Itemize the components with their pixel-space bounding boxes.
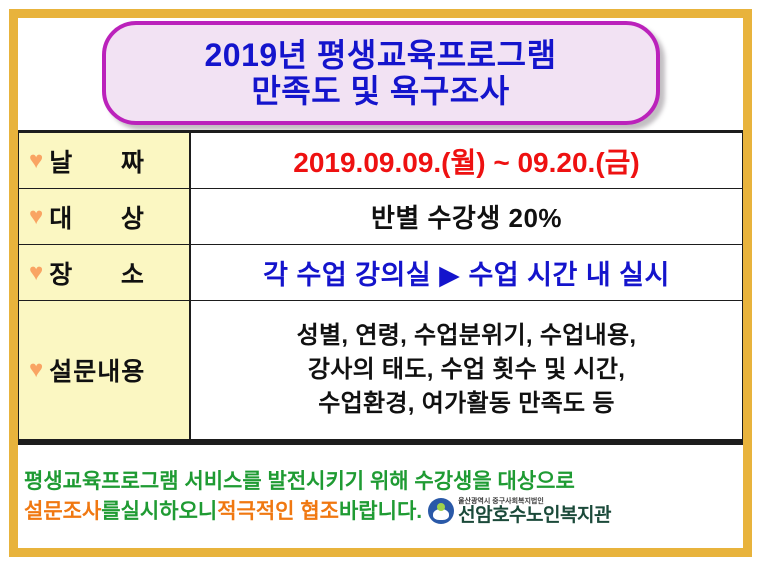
row-label-place-text: 장 소 bbox=[49, 255, 145, 291]
row-value-survey: 성별, 연령, 수업분위기, 수업내용, 강사의 태도, 수업 횟수 및 시간,… bbox=[191, 301, 742, 439]
footer-part-survey: 설문조사 bbox=[24, 497, 101, 527]
date-value: 2019.09.09.(월) ~ 09.20.(금) bbox=[293, 141, 640, 181]
place-value: 각 수업 강의실 ▶ 수업 시간 내 실시 bbox=[263, 253, 670, 292]
welfare-center-logo-icon bbox=[428, 498, 454, 524]
row-label-survey: ♥ 설문내용 bbox=[19, 301, 191, 439]
survey-line-3: 수업환경, 여가활동 만족도 등 bbox=[318, 387, 614, 421]
heart-icon: ♥ bbox=[29, 261, 43, 285]
survey-line-2: 강사의 태도, 수업 횟수 및 시간, bbox=[308, 353, 625, 387]
title-line-1: 2019년 평생교육프로그램 bbox=[204, 37, 556, 73]
poster-content: 2019년 평생교육프로그램 만족도 및 욕구조사 ♥ 날 짜 2019.09.… bbox=[18, 18, 743, 548]
footer-line-1: 평생교육프로그램 서비스를 발전시키기 위해 수강생을 대상으로 bbox=[24, 467, 739, 497]
row-value-place: 각 수업 강의실 ▶ 수업 시간 내 실시 bbox=[191, 245, 742, 300]
target-value: 반별 수강생 20% bbox=[371, 198, 562, 235]
table-row-date: ♥ 날 짜 2019.09.09.(월) ~ 09.20.(금) bbox=[19, 133, 742, 189]
info-table: ♥ 날 짜 2019.09.09.(월) ~ 09.20.(금) ♥ 대 상 반… bbox=[18, 130, 743, 442]
organization-name: 선암호수노인복지관 bbox=[458, 506, 611, 525]
footer-part-particle: 를 bbox=[101, 497, 120, 527]
title-banner: 2019년 평생교육프로그램 만족도 및 욕구조사 bbox=[102, 21, 660, 125]
heart-icon: ♥ bbox=[29, 149, 43, 173]
row-label-place: ♥ 장 소 bbox=[19, 245, 191, 300]
table-row-place: ♥ 장 소 각 수업 강의실 ▶ 수업 시간 내 실시 bbox=[19, 245, 742, 301]
footer-line-1-text: 평생교육프로그램 서비스를 발전시키기 위해 수강생을 대상으로 bbox=[24, 467, 575, 497]
organization-logo-text: 울산광역시 중구사회복지법인 선암호수노인복지관 bbox=[458, 498, 611, 525]
row-label-target-text: 대 상 bbox=[49, 199, 145, 235]
title-line-2: 만족도 및 욕구조사 bbox=[251, 73, 509, 109]
table-row-survey: ♥ 설문내용 성별, 연령, 수업분위기, 수업내용, 강사의 태도, 수업 횟… bbox=[19, 301, 742, 439]
organization-tagline: 울산광역시 중구사회복지법인 bbox=[458, 498, 611, 505]
row-label-survey-text: 설문내용 bbox=[49, 352, 145, 388]
footer-line-2: 설문조사 를 실시하오니 적극적인 협조 바랍니다. 울산광역시 중구사회복지법… bbox=[24, 497, 739, 527]
table-row-target: ♥ 대 상 반별 수강생 20% bbox=[19, 189, 742, 245]
heart-icon: ♥ bbox=[29, 358, 43, 382]
footer-part-conduct: 실시하오니 bbox=[121, 497, 218, 527]
row-label-date-text: 날 짜 bbox=[49, 143, 145, 179]
footer-part-request: 바랍니다. bbox=[339, 497, 422, 527]
poster-root: 2019년 평생교육프로그램 만족도 및 욕구조사 ♥ 날 짜 2019.09.… bbox=[0, 0, 761, 566]
row-value-date: 2019.09.09.(월) ~ 09.20.(금) bbox=[191, 133, 742, 188]
row-label-date: ♥ 날 짜 bbox=[19, 133, 191, 188]
survey-line-1: 성별, 연령, 수업분위기, 수업내용, bbox=[297, 319, 637, 353]
row-label-target: ♥ 대 상 bbox=[19, 189, 191, 244]
footer-part-cooperation: 적극적인 협조 bbox=[217, 497, 339, 527]
row-value-target: 반별 수강생 20% bbox=[191, 189, 742, 244]
heart-icon: ♥ bbox=[29, 205, 43, 229]
title-banner-area: 2019년 평생교육프로그램 만족도 및 욕구조사 bbox=[18, 18, 743, 128]
footer-note: 평생교육프로그램 서비스를 발전시키기 위해 수강생을 대상으로 설문조사 를 … bbox=[18, 442, 743, 548]
organization-logo: 울산광역시 중구사회복지법인 선암호수노인복지관 bbox=[428, 498, 611, 525]
